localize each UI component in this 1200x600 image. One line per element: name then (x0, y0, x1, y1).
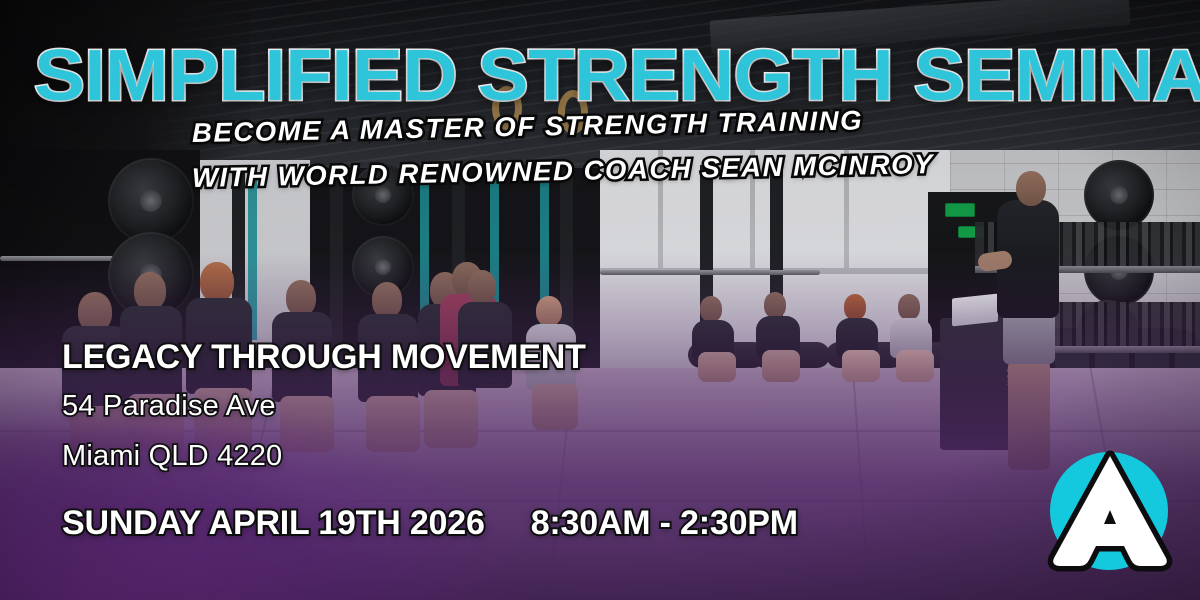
text-layer: SIMPLIFIED STRENGTH SEMINAR BECOME A MAS… (0, 0, 1200, 600)
event-headline: SIMPLIFIED STRENGTH SEMINAR (34, 38, 1200, 114)
event-banner: BLK BOX SIMPLIFIED STRENGTH SEMINAR BECO… (0, 0, 1200, 600)
venue-city-postcode: Miami QLD 4220 (62, 440, 282, 473)
brand-logo (1042, 442, 1178, 578)
venue-name: LEGACY THROUGH MOVEMENT (62, 338, 586, 377)
schedule-line: SUNDAY APRIL 19TH 2026 8:30AM - 2:30PM (62, 504, 798, 543)
letter-a-monogram-icon (1042, 442, 1178, 578)
event-time: 8:30AM - 2:30PM (531, 504, 798, 543)
event-subtitle-line-2: WITH WORLD RENOWNED COACH SEAN MCINROY (192, 149, 934, 194)
event-date: SUNDAY APRIL 19TH 2026 (62, 504, 485, 543)
venue-street: 54 Paradise Ave (62, 390, 276, 423)
